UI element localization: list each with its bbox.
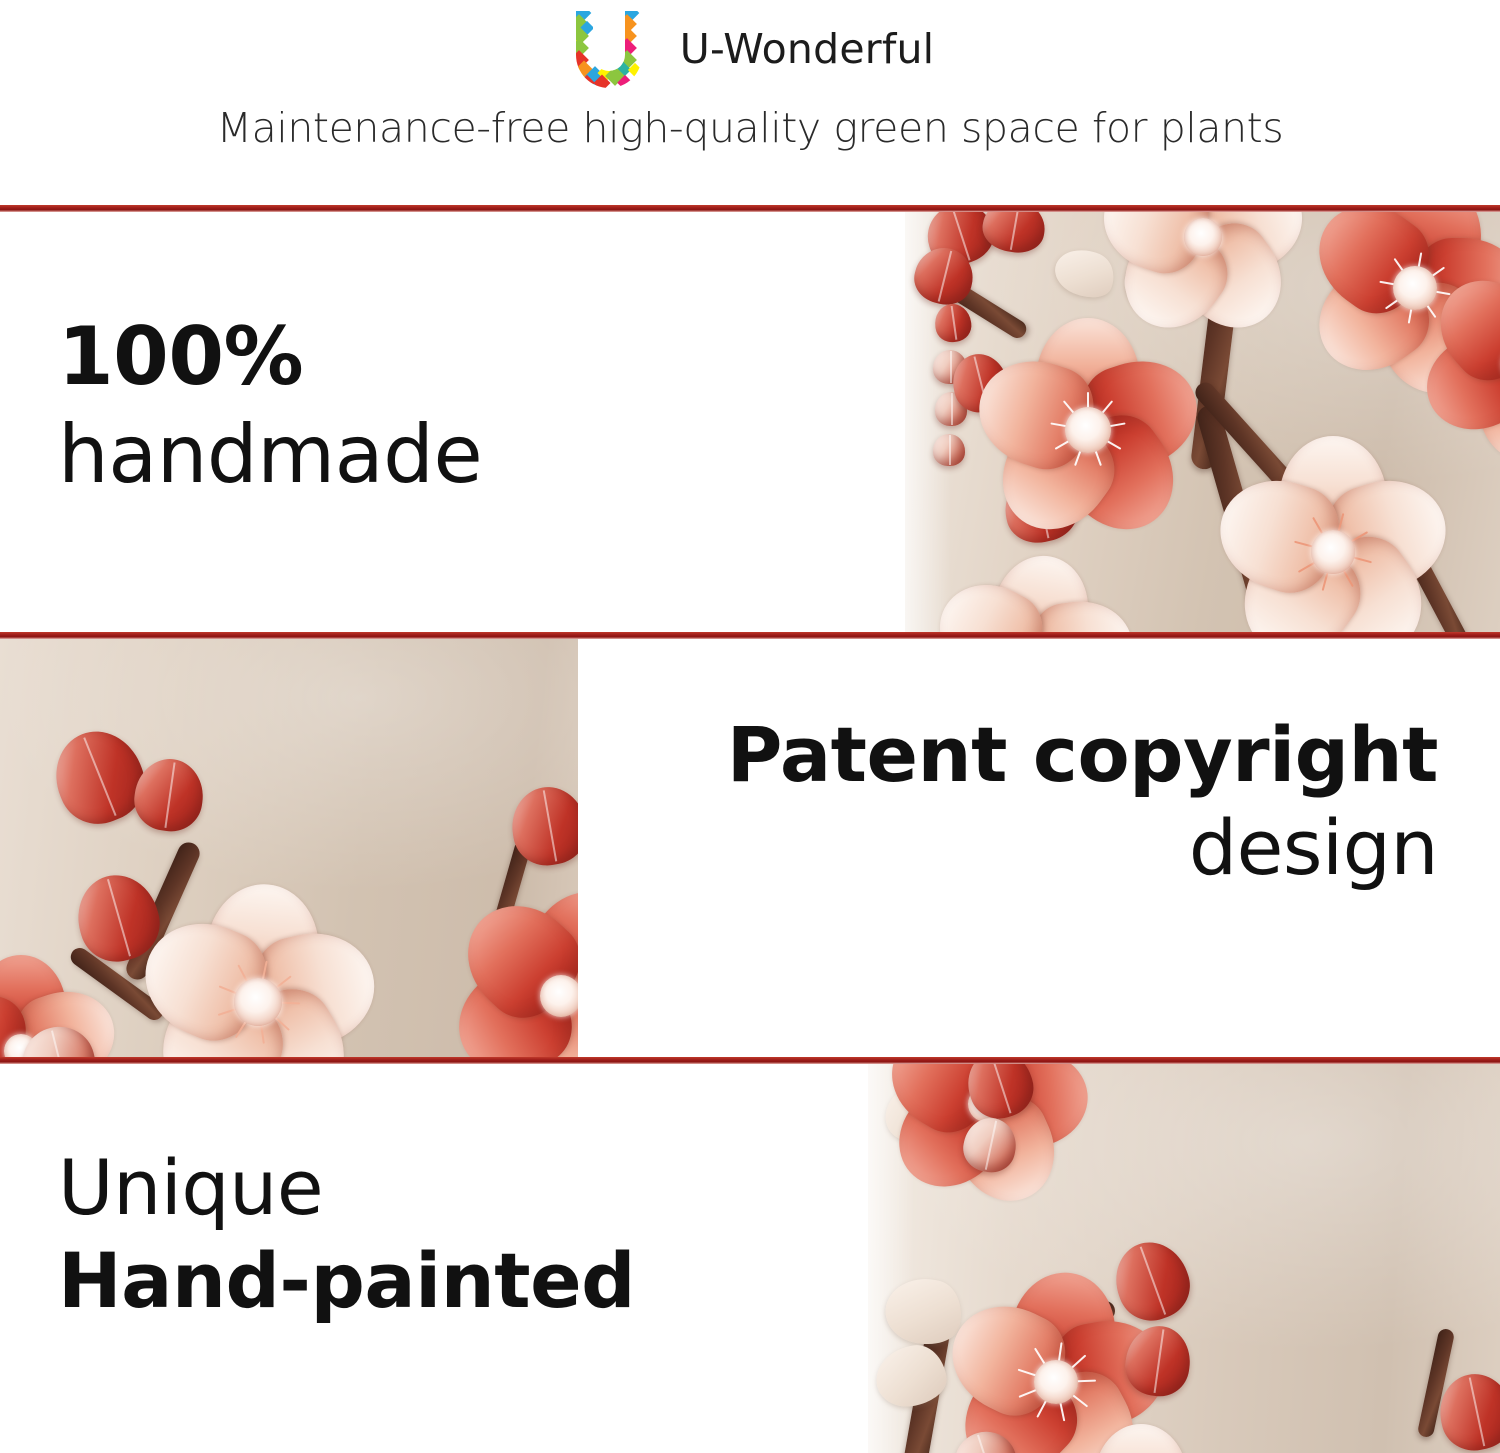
panel-handmade: 100% handmade xyxy=(0,212,1500,632)
blossom-red-large xyxy=(973,320,1203,540)
brand-tagline: Maintenance-free high-quality green spac… xyxy=(0,104,1500,152)
panel-handpainted-line1: Unique xyxy=(58,1142,635,1235)
brand-header: U-Wonderful Maintenance-free high-qualit… xyxy=(0,0,1500,208)
divider-rule-3 xyxy=(0,1057,1500,1064)
panel-patent-caption: Patent copyright design xyxy=(727,709,1438,894)
panel-patent-line2: design xyxy=(727,802,1438,895)
panel-handpainted-line2: Hand-painted xyxy=(58,1235,635,1328)
u-mosaic-logo-icon xyxy=(566,9,652,89)
brand-name: U-Wonderful xyxy=(680,29,934,70)
panel-handmade-photo xyxy=(905,212,1500,632)
panel-patent: Patent copyright design xyxy=(0,639,1500,1057)
product-feature-infographic: U-Wonderful Maintenance-free high-qualit… xyxy=(0,0,1500,1453)
panel-handpainted: Unique Hand-painted xyxy=(0,1064,1500,1453)
panel-handpainted-caption: Unique Hand-painted xyxy=(58,1142,635,1327)
divider-rule-1 xyxy=(0,205,1500,212)
flower-bud xyxy=(933,434,965,466)
panel-handmade-line1: 100% xyxy=(58,308,482,406)
divider-rule-2 xyxy=(0,632,1500,639)
panel-handmade-caption: 100% handmade xyxy=(58,308,482,503)
panel-patent-photo xyxy=(0,639,578,1057)
brand-lockup: U-Wonderful xyxy=(0,8,1500,90)
panel-handpainted-photo xyxy=(868,1064,1500,1453)
panel-handmade-line2: handmade xyxy=(58,406,482,504)
panel-patent-line1: Patent copyright xyxy=(727,709,1438,802)
